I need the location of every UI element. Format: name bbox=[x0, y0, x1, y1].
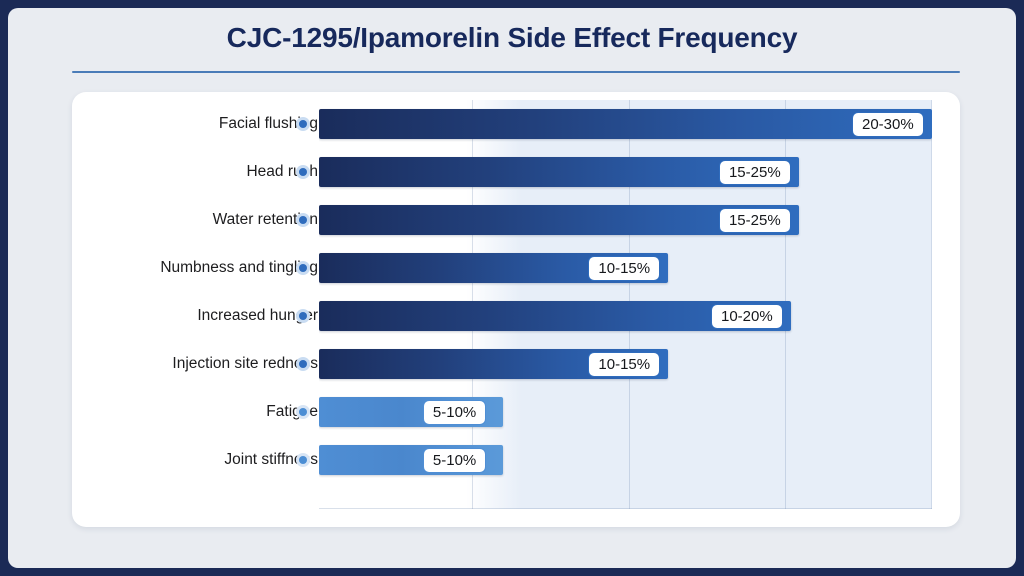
category-marker-dot-icon bbox=[296, 213, 310, 227]
category-marker-dot-icon bbox=[296, 261, 310, 275]
category-row: Fatigue bbox=[72, 388, 960, 436]
category-marker-dot-icon bbox=[296, 309, 310, 323]
category-marker-dot-icon bbox=[296, 357, 310, 371]
chart-card: 20-30%15-25%15-25%10-15%10-20%10-15%5-10… bbox=[72, 92, 960, 527]
category-row: Numbness and tingling bbox=[72, 244, 960, 292]
category-row: Injection site redness bbox=[72, 340, 960, 388]
category-marker-dot-icon bbox=[296, 117, 310, 131]
category-row: Water retention bbox=[72, 196, 960, 244]
slide-page: CJC-1295/Ipamorelin Side Effect Frequenc… bbox=[8, 8, 1016, 568]
category-marker-dot-icon bbox=[296, 405, 310, 419]
category-label: Numbness and tingling bbox=[160, 244, 318, 292]
category-row: Increased hunger bbox=[72, 292, 960, 340]
page-title: CJC-1295/Ipamorelin Side Effect Frequenc… bbox=[8, 22, 1016, 54]
horizontal-bar-chart: 20-30%15-25%15-25%10-15%10-20%10-15%5-10… bbox=[72, 92, 960, 527]
category-label: Fatigue bbox=[266, 388, 318, 436]
category-marker-dot-icon bbox=[296, 165, 310, 179]
header: CJC-1295/Ipamorelin Side Effect Frequenc… bbox=[8, 8, 1016, 86]
slide-frame: CJC-1295/Ipamorelin Side Effect Frequenc… bbox=[0, 0, 1024, 576]
plot-bottom-edge bbox=[319, 508, 932, 509]
title-underline-rule bbox=[72, 71, 960, 73]
category-row: Facial flushing bbox=[72, 100, 960, 148]
category-marker-dot-icon bbox=[296, 453, 310, 467]
category-row: Head rush bbox=[72, 148, 960, 196]
category-row: Joint stiffness bbox=[72, 436, 960, 484]
